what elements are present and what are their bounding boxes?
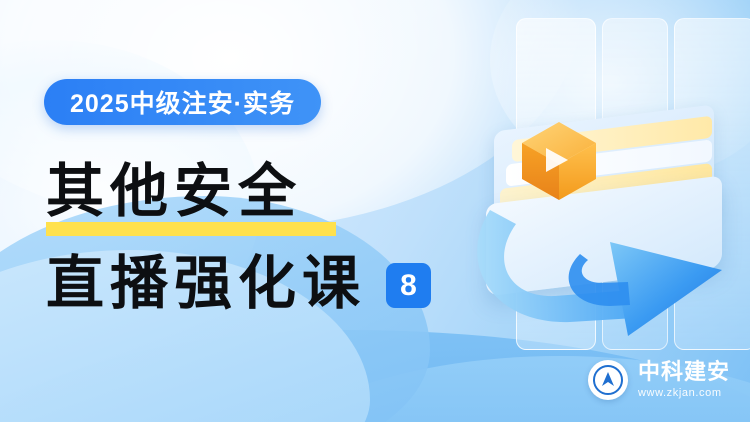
poster-title-line-1: 其他安全	[46, 163, 302, 221]
course-poster: 2025中级注安·实务 其他安全 直播强化课 8 中科建安 www.zkjan.…	[0, 0, 750, 422]
episode-number-badge: 8	[386, 263, 431, 308]
title-highlight-bar	[46, 222, 336, 236]
brand-name: 中科建安	[638, 361, 730, 383]
compass-mark-icon	[588, 360, 628, 400]
brand-url: www.zkjan.com	[638, 388, 730, 399]
poster-title-line-2: 直播强化课	[46, 255, 366, 313]
course-subject-badge: 2025中级注安·实务	[44, 79, 321, 125]
orange-cube-icon	[516, 118, 602, 204]
brand-logo-text: 中科建安 www.zkjan.com	[638, 361, 730, 399]
brand-logo: 中科建安 www.zkjan.com	[588, 360, 730, 400]
